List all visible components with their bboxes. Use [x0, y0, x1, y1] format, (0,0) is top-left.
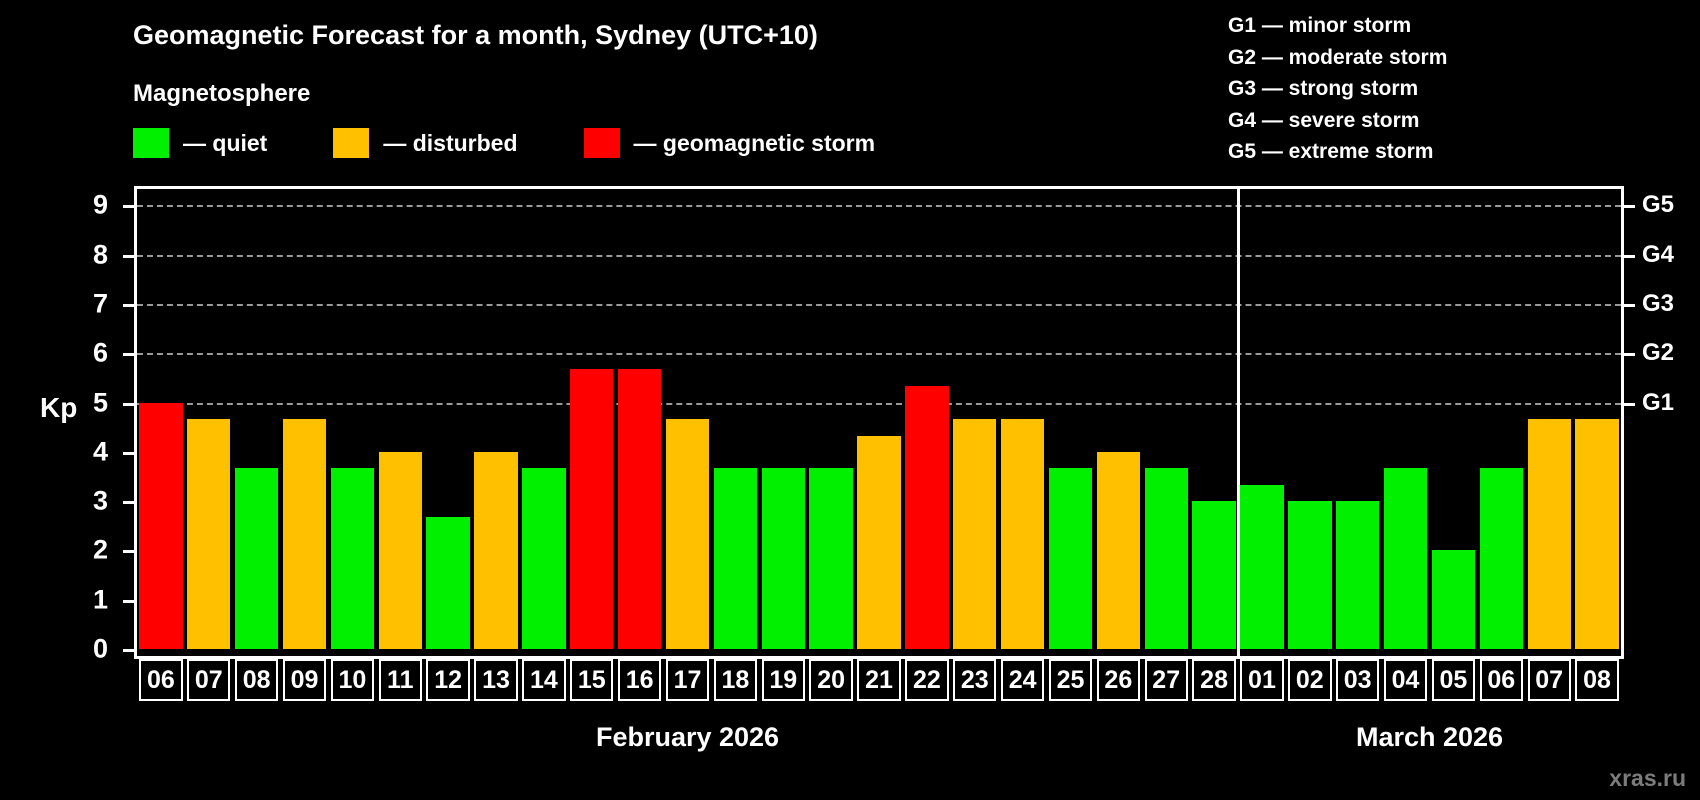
g-tick-label-g1: G1 — [1642, 389, 1674, 417]
bar — [331, 468, 374, 649]
day-label-cell: 24 — [1001, 659, 1044, 701]
bar — [618, 369, 661, 649]
bar — [235, 468, 278, 649]
day-label-cell: 13 — [474, 659, 517, 701]
bar — [1336, 501, 1379, 649]
day-label-cell: 23 — [953, 659, 996, 701]
bar — [953, 419, 996, 649]
magnetosphere-label: Magnetosphere — [133, 80, 310, 108]
bar — [1049, 468, 1092, 649]
g-scale-item-g1: G1 — minor storm — [1228, 10, 1447, 42]
watermark: xras.ru — [1609, 765, 1686, 792]
plot-area — [134, 186, 1624, 656]
bar — [1145, 468, 1188, 649]
day-label-cell: 08 — [1575, 659, 1618, 701]
bar — [762, 468, 805, 649]
day-label-cell: 08 — [235, 659, 278, 701]
day-label-cell: 07 — [1528, 659, 1571, 701]
g-scale-item-g3: G3 — strong storm — [1228, 73, 1447, 105]
day-label-cell: 28 — [1192, 659, 1235, 701]
bar — [570, 369, 613, 649]
legend-swatch-storm — [584, 128, 620, 158]
g-tick-label-g2: G2 — [1642, 339, 1674, 367]
bar — [1097, 452, 1140, 649]
day-label-cell: 09 — [283, 659, 326, 701]
legend-item-disturbed: — disturbed — [333, 128, 517, 158]
legend-swatch-quiet — [133, 128, 169, 158]
y-tick-label-6: 6 — [78, 338, 108, 369]
bar — [1432, 550, 1475, 649]
geomagnetic-forecast-chart: Geomagnetic Forecast for a month, Sydney… — [0, 0, 1700, 800]
day-label-cell: 01 — [1240, 659, 1283, 701]
day-label-cell: 05 — [1432, 659, 1475, 701]
day-label-cell: 18 — [714, 659, 757, 701]
bar — [283, 419, 326, 649]
month-separator-line — [1237, 189, 1240, 656]
bar — [187, 419, 230, 649]
day-label-cell: 20 — [809, 659, 852, 701]
day-label-cell: 06 — [139, 659, 182, 701]
y-tick-label-9: 9 — [78, 190, 108, 221]
y-axis-title: Kp — [40, 392, 77, 424]
bar — [1575, 419, 1618, 649]
legend-label-disturbed: — disturbed — [383, 130, 517, 157]
bar — [379, 452, 422, 649]
day-label-cell: 03 — [1336, 659, 1379, 701]
bar — [1001, 419, 1044, 649]
bar — [809, 468, 852, 649]
g-scale-item-g4: G4 — severe storm — [1228, 105, 1447, 137]
bar — [474, 452, 517, 649]
bar — [1384, 468, 1427, 649]
day-label-cell: 25 — [1049, 659, 1092, 701]
plot-inner — [137, 189, 1621, 656]
g-tick-label-g3: G3 — [1642, 290, 1674, 318]
bar — [1240, 485, 1283, 649]
y-tick-label-8: 8 — [78, 239, 108, 270]
y-tick-label-2: 2 — [78, 535, 108, 566]
y-tick-label-5: 5 — [78, 387, 108, 418]
y-tick-label-0: 0 — [78, 634, 108, 665]
day-label-cell: 10 — [331, 659, 374, 701]
day-label-cell: 04 — [1384, 659, 1427, 701]
legend-swatch-disturbed — [333, 128, 369, 158]
day-label-cell: 17 — [666, 659, 709, 701]
bar — [1528, 419, 1571, 649]
bar — [857, 436, 900, 649]
legend-label-quiet: — quiet — [183, 130, 267, 157]
day-label-cell: 07 — [187, 659, 230, 701]
g-tick-label-g5: G5 — [1642, 191, 1674, 219]
month-name: February 2026 — [137, 722, 1238, 753]
day-label-cell: 21 — [857, 659, 900, 701]
bar — [139, 403, 182, 650]
day-label-cell: 06 — [1480, 659, 1523, 701]
legend-item-storm: — geomagnetic storm — [584, 128, 876, 158]
day-label-cell: 16 — [618, 659, 661, 701]
day-label-cell: 26 — [1097, 659, 1140, 701]
bar — [1480, 468, 1523, 649]
bar — [714, 468, 757, 649]
legend-label-storm: — geomagnetic storm — [634, 130, 876, 157]
bar — [522, 468, 565, 649]
g-tick-label-g4: G4 — [1642, 241, 1674, 269]
g-scale-item-g2: G2 — moderate storm — [1228, 42, 1447, 74]
bar — [905, 386, 948, 649]
bar — [1192, 501, 1235, 649]
day-label-cell: 02 — [1288, 659, 1331, 701]
y-tick-label-4: 4 — [78, 436, 108, 467]
y-tick-label-1: 1 — [78, 584, 108, 615]
day-label-cell: 12 — [426, 659, 469, 701]
bar — [1288, 501, 1331, 649]
day-label-cell: 22 — [905, 659, 948, 701]
bar — [426, 517, 469, 649]
y-tick-label-7: 7 — [78, 288, 108, 319]
bar-series — [137, 189, 1621, 656]
color-legend: — quiet — disturbed — geomagnetic storm — [133, 128, 875, 158]
legend-item-quiet: — quiet — [133, 128, 267, 158]
day-label-cell: 14 — [522, 659, 565, 701]
day-label-cell: 11 — [379, 659, 422, 701]
g-scale-item-g5: G5 — extreme storm — [1228, 136, 1447, 168]
month-name: March 2026 — [1238, 722, 1621, 753]
bar — [666, 419, 709, 649]
day-label-cell: 19 — [762, 659, 805, 701]
day-label-cell: 27 — [1145, 659, 1188, 701]
chart-title: Geomagnetic Forecast for a month, Sydney… — [133, 20, 818, 51]
y-tick-label-3: 3 — [78, 486, 108, 517]
g-scale-legend: G1 — minor storm G2 — moderate storm G3 … — [1228, 10, 1447, 168]
day-label-cell: 15 — [570, 659, 613, 701]
